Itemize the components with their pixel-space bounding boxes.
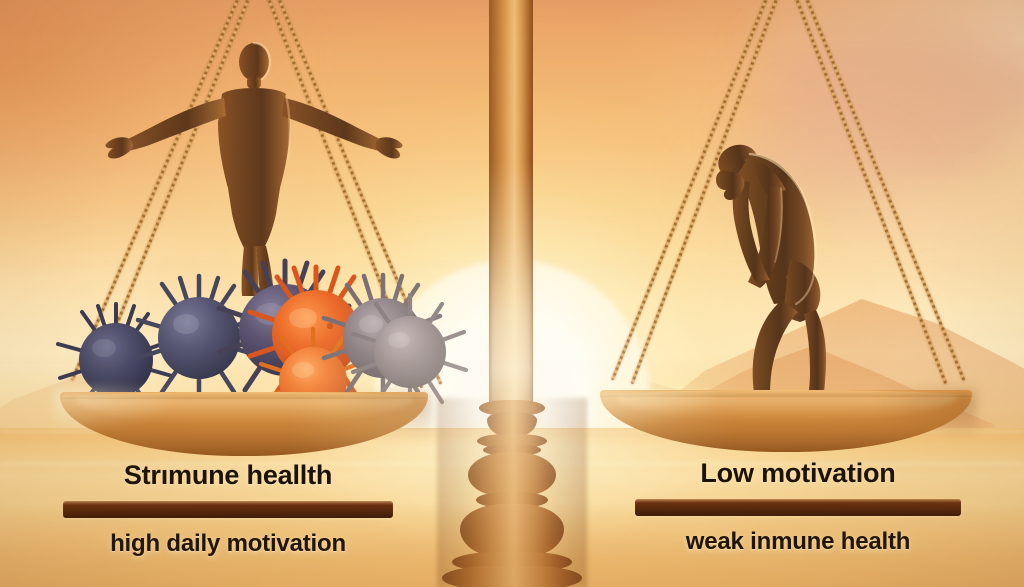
caption-right-primary: Low motivation xyxy=(700,460,895,487)
caption-group-left: Strımune heallth high daily motivation xyxy=(62,462,394,556)
caption-divider-bar-right xyxy=(635,499,961,516)
caption-left-secondary: high daily motivation xyxy=(110,532,346,556)
caption-group-right: Low motivation weak inmune health xyxy=(634,460,962,554)
hunched-exhausted-figure xyxy=(686,132,876,412)
caption-right-secondary: weak inmune health xyxy=(686,530,910,554)
scale-pan-left xyxy=(60,392,428,456)
pan-edge-shadow xyxy=(879,388,976,438)
column-base-bulb xyxy=(460,504,564,556)
pan-edge-glow xyxy=(54,388,179,433)
scale-pan-right xyxy=(600,390,972,452)
column-base-foot xyxy=(442,566,582,587)
caption-divider-bar-left xyxy=(63,501,393,518)
standing-figure-arms-outstretched xyxy=(104,18,404,298)
illustration-canvas: Strımune heallth high daily motivation L… xyxy=(0,0,1024,587)
column-base-bulb xyxy=(468,452,556,496)
pan-edge-shadow xyxy=(336,390,432,441)
caption-left-primary: Strımune heallth xyxy=(124,462,332,489)
pan-edge-glow xyxy=(594,386,720,429)
column-backlight-glow xyxy=(489,160,533,410)
